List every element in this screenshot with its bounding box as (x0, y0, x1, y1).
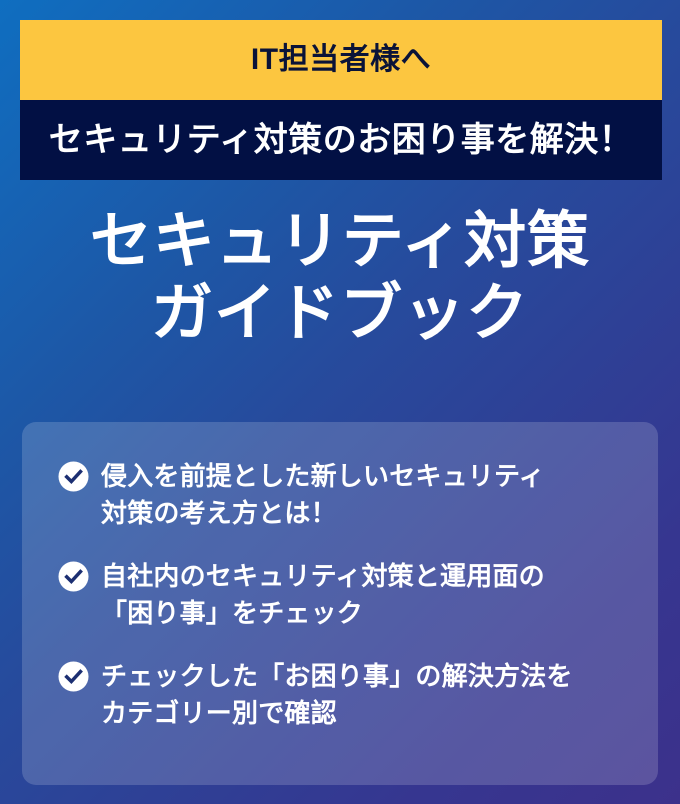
subtitle-label: セキュリティ対策のお困り事を解決！ (49, 123, 633, 157)
security-guidebook-banner: IT担当者様へ セキュリティ対策のお困り事を解決！ セキュリティ対策 ガイドブッ… (0, 0, 680, 804)
check-circle-icon (58, 561, 89, 592)
benefit-list: 侵入を前提とした新しいセキュリティ 対策の考え方とは！ 自社内のセキュリティ対策… (58, 458, 636, 731)
list-item-text-line-1: チェックした「お困り事」の解決方法を (101, 661, 573, 691)
eyebrow-band: IT担当者様へ (20, 20, 662, 100)
benefits-panel: 侵入を前提とした新しいセキュリティ 対策の考え方とは！ 自社内のセキュリティ対策… (22, 422, 658, 785)
check-circle-icon (58, 661, 89, 692)
list-item-text-line-1: 侵入を前提とした新しいセキュリティ (101, 461, 545, 491)
check-circle-icon (58, 461, 89, 492)
list-item: 侵入を前提とした新しいセキュリティ 対策の考え方とは！ (58, 458, 636, 532)
list-item-text-line-2: 「困り事」をチェック (101, 598, 363, 628)
list-item: 自社内のセキュリティ対策と運用面の 「困り事」をチェック (58, 558, 636, 632)
subtitle-band: セキュリティ対策のお困り事を解決！ (20, 100, 662, 180)
list-item-text: 侵入を前提とした新しいセキュリティ 対策の考え方とは！ (101, 458, 545, 532)
list-item-text: 自社内のセキュリティ対策と運用面の 「困り事」をチェック (101, 558, 545, 632)
page-title-line-1: セキュリティ対策 (0, 206, 680, 278)
page-title-line-2: ガイドブック (0, 278, 680, 350)
list-item: チェックした「お困り事」の解決方法を カテゴリー別で確認 (58, 658, 636, 732)
list-item-text-line-2: 対策の考え方とは！ (101, 498, 337, 528)
list-item-text-line-2: カテゴリー別で確認 (101, 698, 337, 728)
eyebrow-label: IT担当者様へ (251, 45, 431, 75)
page-title: セキュリティ対策 ガイドブック (0, 206, 680, 350)
list-item-text: チェックした「お困り事」の解決方法を カテゴリー別で確認 (101, 658, 573, 732)
list-item-text-line-1: 自社内のセキュリティ対策と運用面の (101, 561, 545, 591)
